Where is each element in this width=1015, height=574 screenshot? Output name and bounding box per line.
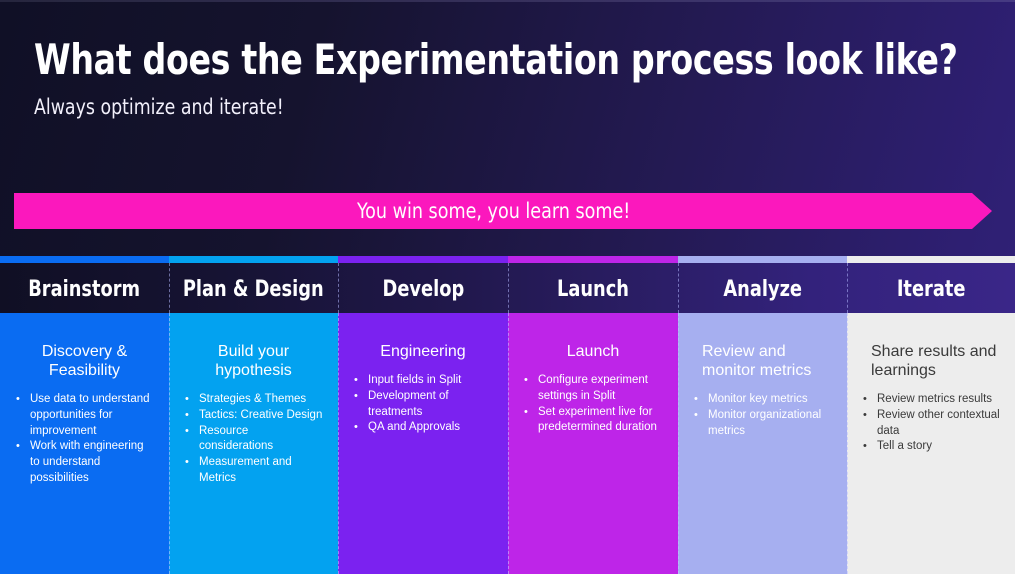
stage-column-brainstorm[interactable]: Discovery & FeasibilityUse data to under… [0,313,169,574]
stage-accent-strip [847,256,1015,263]
stage-column-title: Review and monitor metrics [692,342,833,380]
banner-label: You win some, you learn some! [357,199,630,223]
list-item: Review metrics results [861,392,1001,408]
header-divider [508,263,509,313]
stage-column-iterate[interactable]: Share results and learningsReview metric… [847,313,1015,574]
slide-canvas: What does the Experimentation process lo… [0,0,1015,574]
title-block: What does the Experimentation process lo… [34,34,934,120]
page-title: What does the Experimentation process lo… [34,34,826,86]
list-item: Tell a story [861,439,1001,455]
stage-column-analyze[interactable]: Review and monitor metricsMonitor key me… [678,313,847,574]
stage-header-label: Iterate [897,278,966,302]
list-item: Tactics: Creative Design [183,408,324,424]
list-item: Work with engineering to understand poss… [14,439,155,486]
list-item: Strategies & Themes [183,392,324,408]
stage-column-plan-design[interactable]: Build your hypothesisStrategies & Themes… [169,313,338,574]
list-item: Configure experiment settings in Split [522,373,664,405]
column-divider [169,313,170,574]
column-divider [338,313,339,574]
stage-header-label: Launch [557,278,629,302]
stage-columns: Discovery & FeasibilityUse data to under… [0,313,1015,574]
stage-column-title: Build your hypothesis [183,342,324,380]
stage-header-launch[interactable]: Launch [508,256,678,313]
stage-column-bullets: Input fields in SplitDevelopment of trea… [352,373,494,436]
list-item: Review other contextual data [861,408,1001,440]
list-item: Measurement and Metrics [183,455,324,487]
stage-header-develop[interactable]: Develop [338,256,508,313]
list-item: Resource considerations [183,424,324,456]
list-item: Monitor organizational metrics [692,408,833,440]
stage-accent-strip [678,256,847,263]
stage-accent-strip [0,256,169,263]
column-divider [678,313,679,574]
header-divider [847,263,848,313]
stage-column-title: Engineering [352,342,494,361]
header-divider [169,263,170,313]
column-divider [847,313,848,574]
stage-column-title: Launch [522,342,664,361]
progress-arrow-banner: You win some, you learn some! [14,193,992,229]
stage-column-bullets: Monitor key metricsMonitor organizationa… [692,392,833,439]
stage-column-bullets: Use data to understand opportunities for… [14,392,155,487]
stage-accent-strip [508,256,678,263]
list-item: Use data to understand opportunities for… [14,392,155,439]
stage-header-brainstorm[interactable]: Brainstorm [0,256,169,313]
stage-column-title: Share results and learnings [861,342,1001,380]
stage-column-title: Discovery & Feasibility [14,342,155,380]
stage-header-label: Develop [382,278,464,302]
list-item: QA and Approvals [352,420,494,436]
stage-header-label: Analyze [723,278,802,302]
list-item: Development of treatments [352,389,494,421]
header-divider [678,263,679,313]
stage-header-analyze[interactable]: Analyze [678,256,847,313]
list-item: Set experiment live for predetermined du… [522,405,664,437]
column-divider [508,313,509,574]
top-hairline [0,0,1015,2]
stage-column-develop[interactable]: EngineeringInput fields in SplitDevelopm… [338,313,508,574]
stage-column-bullets: Review metrics resultsReview other conte… [861,392,1001,455]
stage-header-label: Plan & Design [183,278,324,302]
stage-column-launch[interactable]: LaunchConfigure experiment settings in S… [508,313,678,574]
stage-header-iterate[interactable]: Iterate [847,256,1015,313]
list-item: Monitor key metrics [692,392,833,408]
page-subtitle: Always optimize and iterate! [34,94,862,120]
stage-header-band: BrainstormPlan & DesignDevelopLaunchAnal… [0,256,1015,313]
stage-header-plan-design[interactable]: Plan & Design [169,256,338,313]
stage-column-bullets: Strategies & ThemesTactics: Creative Des… [183,392,324,487]
stage-accent-strip [169,256,338,263]
list-item: Input fields in Split [352,373,494,389]
stage-column-bullets: Configure experiment settings in SplitSe… [522,373,664,436]
stage-accent-strip [338,256,508,263]
stage-header-label: Brainstorm [29,278,141,302]
header-divider [338,263,339,313]
